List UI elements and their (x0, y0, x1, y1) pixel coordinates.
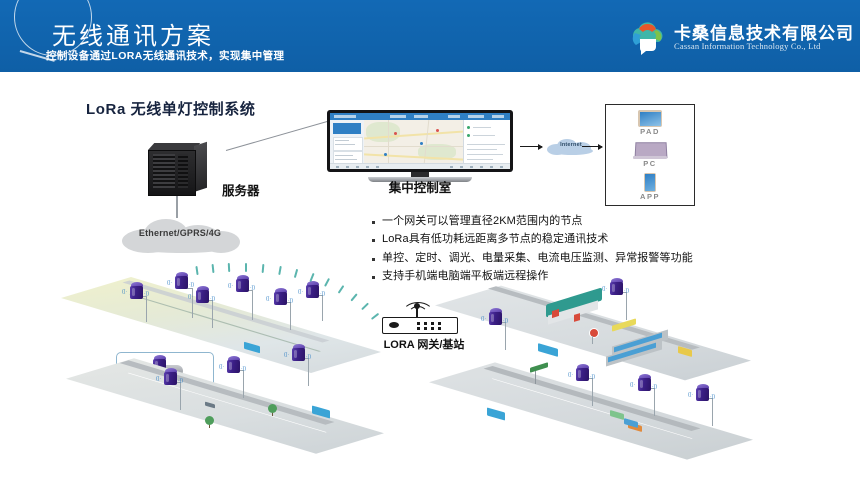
page-subtitle: 控制设备通过LORA无线通讯技术，实现集中管理 (46, 48, 284, 63)
wireless-signal-icon: ·)) (503, 318, 508, 324)
company-logo: 卡桑信息技术有限公司 Cassan Information Technology… (628, 16, 854, 60)
bullet-dot-icon (372, 239, 375, 242)
device-app: APP (606, 173, 694, 201)
lora-node-icon (306, 281, 319, 298)
wireless-signal-icon: ·)) (590, 374, 595, 380)
wireless-signal-icon: ·)) (624, 288, 629, 294)
bullet-dot-icon (372, 258, 375, 261)
logo-company-cn: 卡桑信息技术有限公司 (674, 25, 854, 43)
lora-node-icon (274, 288, 287, 305)
wireless-signal-icon: ·)) (710, 394, 715, 400)
tablet-icon (638, 110, 662, 127)
laptop-icon (633, 142, 667, 159)
device-pad: PAD (606, 110, 694, 136)
tree-icon (205, 416, 214, 425)
lora-node-icon (638, 374, 651, 391)
server-label: 服务器 (222, 180, 260, 199)
list-item: 支持手机端电脑端平板端远程操作 (372, 270, 692, 284)
lora-node-icon (236, 275, 249, 292)
wireless-signal-icon: ((· (266, 296, 271, 302)
wireless-signal-icon: ·)) (652, 384, 657, 390)
lora-node-icon (696, 384, 709, 401)
logo-company-en: Cassan Information Technology Co., Ltd (674, 42, 854, 51)
arrow-to-internet (520, 146, 542, 147)
bullet-dot-icon (372, 276, 375, 279)
lora-node-icon (292, 344, 305, 361)
cassan-cloud-logo-icon (628, 20, 668, 56)
dashboard-screen (330, 113, 510, 169)
device-label-pc: PC (606, 159, 694, 168)
wireless-signal-icon: ((· (602, 286, 607, 292)
control-room-label: 集中控制室 (327, 177, 513, 196)
device-pc: PC (606, 142, 694, 168)
wireless-signal-icon: ·)) (306, 354, 311, 360)
tree-icon (268, 404, 277, 413)
wireless-signal-icon: ((· (284, 352, 289, 358)
bullet-text: LoRa具有低功耗远距离多节点的稳定通讯技术 (382, 233, 609, 247)
slide-header: 无线通讯方案 控制设备通过LORA无线通讯技术，实现集中管理 卡桑信息技术有限公… (0, 0, 860, 72)
sign-pole (592, 336, 593, 344)
bullet-text: 单控、定时、调光、电量采集、电流电压监测、异常报警等功能 (382, 252, 693, 266)
wireless-signal-icon: ((· (156, 376, 161, 382)
client-device-panel: PAD PC APP (605, 104, 695, 206)
wireless-signal-icon: ((· (568, 372, 573, 378)
slide-root: 无线通讯方案 控制设备通过LORA无线通讯技术，实现集中管理 卡桑信息技术有限公… (0, 0, 860, 482)
wireless-signal-icon: ((· (228, 283, 233, 289)
smartphone-icon (644, 173, 656, 192)
section-title: LoRa 无线单灯控制系统 (86, 98, 255, 119)
lora-node-icon (489, 308, 502, 325)
network-cloud-label: Ethernet/GPRS/4G (116, 228, 244, 238)
lora-node-icon (164, 368, 177, 385)
wireless-signal-icon: ((· (688, 392, 693, 398)
wireless-signal-icon: ·)) (210, 296, 215, 302)
logo-text-block: 卡桑信息技术有限公司 Cassan Information Technology… (674, 25, 854, 52)
lora-node-icon (196, 286, 209, 303)
bullet-text: 支持手机端电脑端平板端远程操作 (382, 270, 549, 284)
lora-node-icon (576, 364, 589, 381)
wireless-signal-icon: ((· (188, 294, 193, 300)
page-title: 无线通讯方案 (52, 16, 214, 51)
wireless-signal-icon: ((· (298, 289, 303, 295)
wireless-signal-icon: ·)) (189, 282, 194, 288)
lora-node-icon (227, 356, 240, 373)
wireless-signal-icon: ((· (481, 316, 486, 322)
wireless-signal-icon: ·)) (250, 285, 255, 291)
bullet-text: 一个网关可以管理直径2KM范围内的节点 (382, 215, 583, 229)
server-rack-icon (148, 148, 208, 196)
wireless-signal-icon: ((· (219, 364, 224, 370)
list-item: LoRa具有低功耗远距离多节点的稳定通讯技术 (372, 233, 692, 247)
list-item: 单控、定时、调光、电量采集、电流电压监测、异常报警等功能 (372, 252, 692, 266)
lora-node-icon (130, 282, 143, 299)
device-label-pad: PAD (606, 127, 694, 136)
wireless-signal-icon: ((· (122, 289, 127, 295)
wireless-signal-icon: ·)) (144, 291, 149, 297)
gateway-label: LORA 网关/基站 (372, 336, 476, 352)
traffic-sign-icon (589, 328, 599, 338)
bullet-dot-icon (372, 221, 375, 224)
list-item: 一个网关可以管理直径2KM范围内的节点 (372, 215, 692, 229)
lora-node-icon (175, 272, 188, 289)
widescreen-monitor-icon (327, 110, 513, 172)
wireless-signal-icon: ·)) (320, 291, 325, 297)
server-monitor-connector (226, 120, 330, 151)
wireless-signal-icon: ((· (630, 382, 635, 388)
wireless-signal-icon: ((· (167, 280, 172, 286)
feature-bullet-list: 一个网关可以管理直径2KM范围内的节点 LoRa具有低功耗远距离多节点的稳定通讯… (372, 215, 692, 288)
arrow-to-devices (582, 146, 602, 147)
wireless-signal-icon: ·)) (288, 298, 293, 304)
device-label-app: APP (606, 192, 694, 201)
street-plate-upper-left (96, 290, 346, 360)
wireless-signal-icon: ·)) (241, 366, 246, 372)
lora-node-icon (610, 278, 623, 295)
wireless-signal-icon: ·)) (178, 378, 183, 384)
